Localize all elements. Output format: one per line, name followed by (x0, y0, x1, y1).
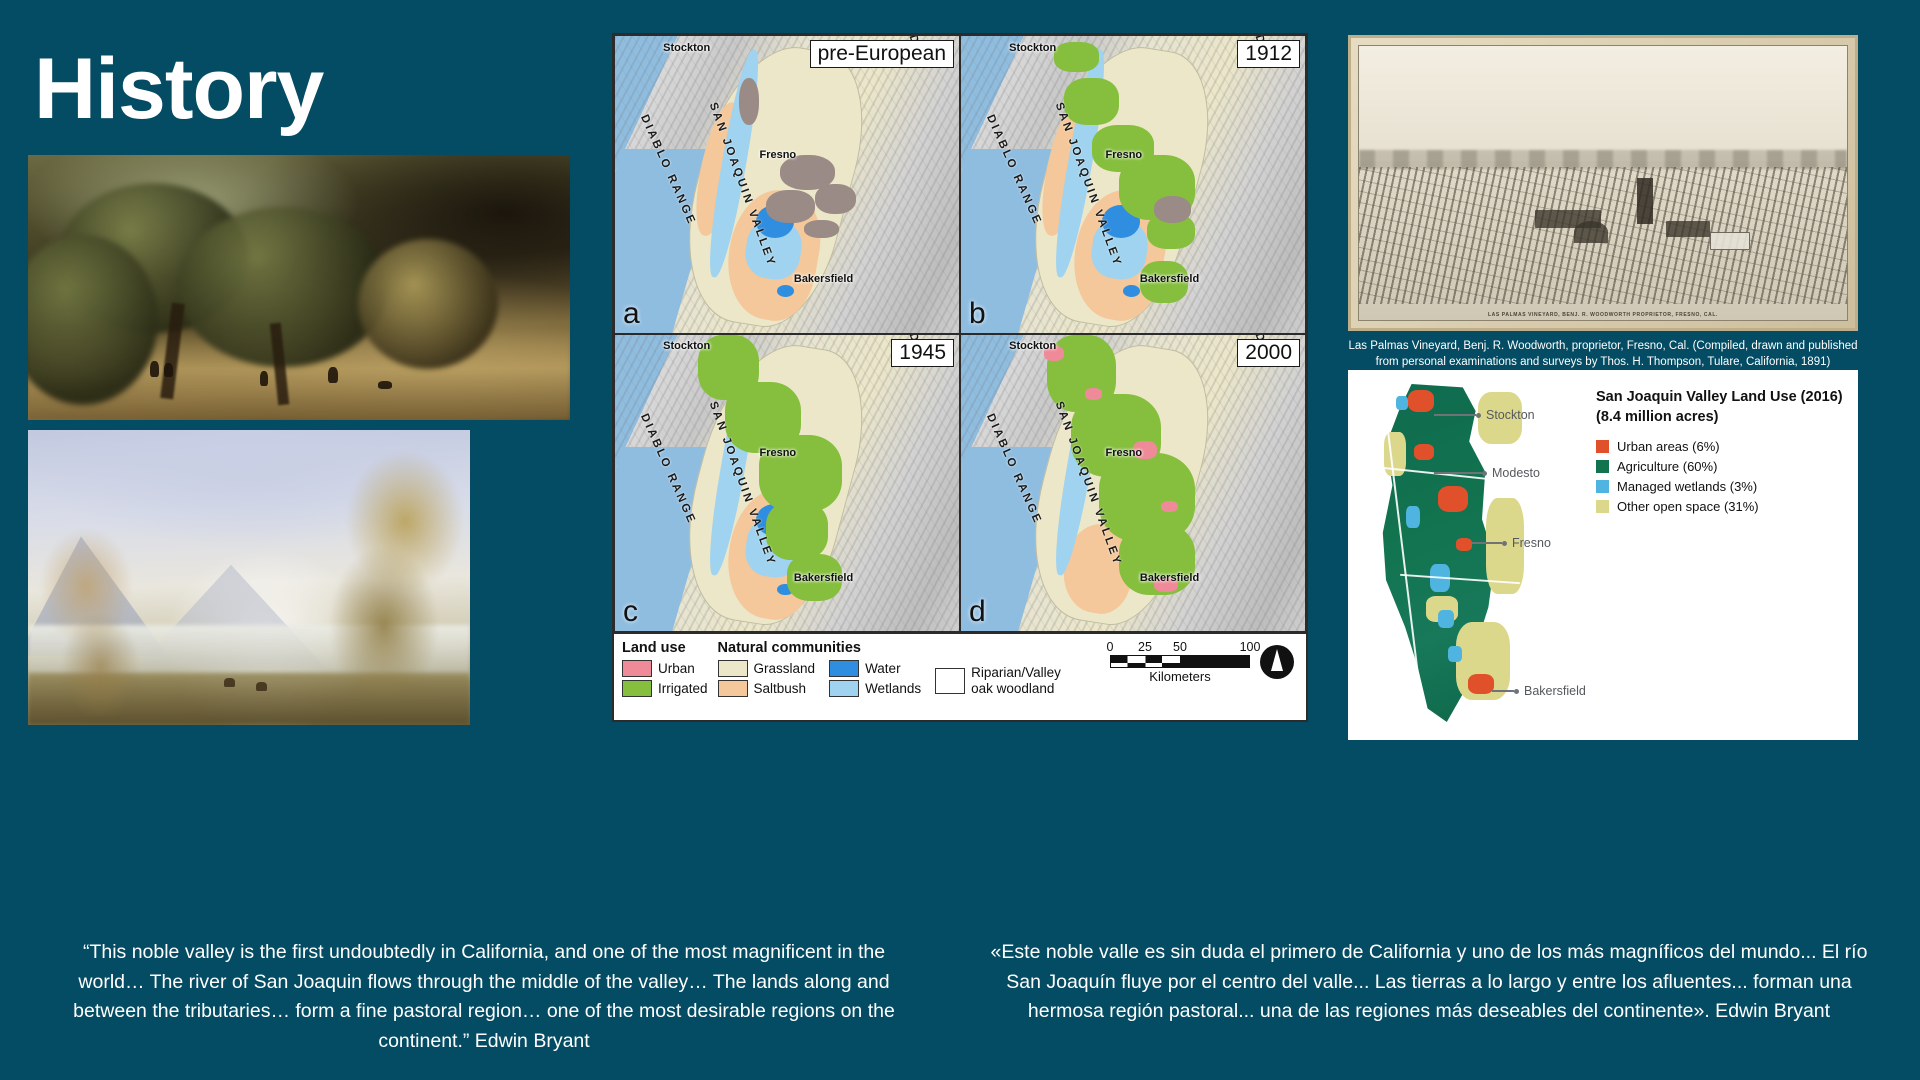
lu-legend-label-agriculture: Agriculture (60%) (1617, 459, 1717, 474)
swatch-urban-areas (1596, 440, 1609, 453)
urban-area-fresno (1438, 486, 1468, 512)
swatch-saltbush (718, 680, 748, 697)
swatch-other-open-space (1596, 500, 1609, 513)
riparian-oak-woodland (1154, 196, 1192, 223)
riparian-oak-woodland (815, 184, 856, 214)
legend-title-natural-communities: Natural communities (718, 640, 1061, 656)
engraving-building (1710, 232, 1750, 250)
lu-legend-item-other-open-space: Other open space (31%) (1596, 499, 1846, 514)
managed-wetland-area (1396, 396, 1408, 410)
lu-legend-item-urban: Urban areas (6%) (1596, 439, 1846, 454)
callout-line (1492, 690, 1514, 691)
map-panel-1912: SIERRA NEVADA DIABLO RANGE SAN JOAQUIN V… (960, 35, 1306, 334)
irrigated-area (766, 501, 828, 560)
callout-dot (1482, 471, 1487, 476)
callout-label-stockton: Stockton (1486, 408, 1535, 422)
oak-woodland-encampment-painting (28, 155, 570, 420)
quote-english: “This noble valley is the first undoubte… (56, 938, 912, 1057)
callout-dot (1502, 541, 1507, 546)
vineyard-caption: Las Palmas Vineyard, Benj. R. Woodworth,… (1348, 338, 1858, 371)
callout-dot (1476, 413, 1481, 418)
panel-year-label: pre-European (810, 40, 954, 68)
map-panel-2000: SIERRA NEVADA DIABLO RANGE SAN JOAQUIN V… (960, 334, 1306, 633)
legend-item-grassland: Grassland (718, 660, 816, 677)
city-label-stockton: Stockton (1009, 340, 1056, 352)
autumn-tree (312, 452, 462, 700)
swatch-wetlands (829, 680, 859, 697)
legend-group-land-use: Land use Urban Irrigated (622, 640, 708, 700)
callout-label-bakersfield: Bakersfield (1524, 684, 1586, 698)
legend-label-wetlands: Wetlands (865, 681, 921, 696)
urban-area-stockton (1408, 390, 1434, 412)
tree-canopy (178, 207, 388, 367)
swatch-agriculture (1596, 460, 1609, 473)
legend-natural-col-1: Grassland Saltbush (718, 660, 816, 700)
callout-line (1472, 542, 1502, 543)
irrigated-area (1064, 78, 1119, 125)
scale-unit-label: Kilometers (1149, 669, 1210, 684)
water-lake (777, 285, 794, 297)
city-label-bakersfield: Bakersfield (794, 273, 853, 285)
city-label-bakersfield: Bakersfield (1140, 572, 1199, 584)
historical-land-cover-maps-figure: SIERRA NEVADA DIABLO RANGE SAN JOAQUIN V… (612, 33, 1308, 722)
human-figure (328, 367, 338, 383)
land-use-title: San Joaquin Valley Land Use (2016) (8.4 … (1596, 388, 1846, 427)
legend-label-irrigated: Irrigated (658, 681, 708, 696)
callout-bakersfield: Bakersfield (1492, 684, 1586, 698)
callout-dot (1514, 689, 1519, 694)
land-use-map: Stockton Modesto Fresno Bakersfield (1360, 378, 1550, 730)
irrigated-area (1054, 42, 1099, 72)
tree-canopy (358, 239, 498, 369)
land-use-legend: San Joaquin Valley Land Use (2016) (8.4 … (1596, 388, 1846, 519)
scale-tick-25: 25 (1138, 640, 1152, 654)
deer-figure (224, 678, 235, 687)
slide-root: History (0, 0, 1920, 1080)
callout-label-modesto: Modesto (1492, 466, 1540, 480)
legend-item-water: Water (829, 660, 921, 677)
legend-label-urban: Urban (658, 661, 695, 676)
lu-legend-label-other-open-space: Other open space (31%) (1617, 499, 1759, 514)
land-use-2016-figure: Stockton Modesto Fresno Bakersfield San … (1348, 370, 1858, 740)
scale-bar-group: 0 25 50 100 Kilometers (1110, 640, 1250, 684)
scale-tick-0: 0 (1107, 640, 1114, 654)
map-legend: Land use Urban Irrigated Natural communi… (614, 632, 1306, 720)
legend-natural-col-2: Water Wetlands (829, 660, 921, 700)
city-label-bakersfield: Bakersfield (794, 572, 853, 584)
lu-legend-label-urban: Urban areas (6%) (1617, 439, 1720, 454)
panel-letter: c (623, 595, 638, 629)
legend-label-riparian-wrapper: Riparian/Valley oak woodland (971, 665, 1061, 696)
managed-wetland-area (1438, 610, 1454, 628)
legend-item-riparian: Riparian/Valley oak woodland (935, 662, 1061, 700)
swatch-urban (622, 660, 652, 677)
lu-legend-item-agriculture: Agriculture (60%) (1596, 459, 1846, 474)
scale-and-compass: 0 25 50 100 Kilometers (1110, 640, 1298, 684)
city-label-stockton: Stockton (663, 340, 710, 352)
legend-label-saltbush: Saltbush (754, 681, 807, 696)
panel-letter: d (969, 595, 986, 629)
lu-legend-item-managed-wetlands: Managed wetlands (3%) (1596, 479, 1846, 494)
autumn-tree (32, 526, 150, 716)
legend-label-water: Water (865, 661, 901, 676)
swatch-irrigated (622, 680, 652, 697)
swatch-managed-wetlands (1596, 480, 1609, 493)
callout-label-fresno: Fresno (1512, 536, 1551, 550)
legend-title-land-use: Land use (622, 640, 708, 656)
scale-tick-labels: 0 25 50 100 (1110, 640, 1250, 655)
callout-line (1434, 414, 1476, 415)
engraving-sky (1359, 46, 1847, 161)
managed-wetland-area (1406, 506, 1420, 528)
legend-item-irrigated: Irrigated (622, 680, 708, 697)
callout-modesto: Modesto (1434, 466, 1540, 480)
water-lake (1123, 285, 1140, 297)
city-label-stockton: Stockton (663, 42, 710, 54)
scale-bar (1110, 655, 1250, 668)
legend-item-wetlands: Wetlands (829, 680, 921, 697)
legend-label-riparian-line2: oak woodland (971, 681, 1054, 696)
swatch-riparian-oak-woodland (935, 668, 965, 694)
city-label-fresno: Fresno (759, 149, 796, 161)
map-panel-grid: SIERRA NEVADA DIABLO RANGE SAN JOAQUIN V… (614, 35, 1306, 632)
panel-letter: b (969, 297, 986, 331)
urban-area (1085, 388, 1102, 400)
callout-stockton: Stockton (1434, 408, 1535, 422)
panel-letter: a (623, 297, 640, 331)
scale-tick-100: 100 (1240, 640, 1261, 654)
city-label-stockton: Stockton (1009, 42, 1056, 54)
map-panel-pre-european: SIERRA NEVADA DIABLO RANGE SAN JOAQUIN V… (614, 35, 960, 334)
human-figure (260, 371, 268, 386)
legend-natural-columns: Grassland Saltbush Water (718, 660, 1061, 700)
vineyard-engraving-image: LAS PALMAS VINEYARD, BENJ. R. WOODWORTH … (1358, 45, 1848, 321)
deer-figure (256, 682, 267, 691)
vineyard-engraving-frame: LAS PALMAS VINEYARD, BENJ. R. WOODWORTH … (1348, 35, 1858, 331)
city-label-bakersfield: Bakersfield (1140, 273, 1199, 285)
dog-figure (378, 381, 392, 389)
riparian-oak-woodland (739, 78, 760, 125)
urban-area-modesto (1414, 444, 1434, 460)
riparian-oak-woodland (804, 220, 838, 238)
managed-wetland-area (1448, 646, 1462, 662)
human-figure (150, 361, 159, 377)
north-arrow-icon (1260, 645, 1294, 679)
swatch-water (829, 660, 859, 677)
legend-group-natural-communities: Natural communities Grassland Saltbush (718, 640, 1061, 700)
legend-label-grassland: Grassland (754, 661, 816, 676)
panel-year-label: 1945 (891, 339, 954, 367)
engraving-inline-caption: LAS PALMAS VINEYARD, BENJ. R. WOODWORTH … (1359, 312, 1847, 318)
page-title: History (34, 46, 323, 132)
callout-line (1434, 472, 1482, 473)
city-label-fresno: Fresno (1105, 447, 1142, 459)
swatch-grassland (718, 660, 748, 677)
urban-area (1456, 538, 1472, 551)
legend-item-saltbush: Saltbush (718, 680, 816, 697)
riparian-oak-woodland (766, 190, 814, 223)
callout-fresno: Fresno (1472, 536, 1551, 550)
engraving-building (1666, 221, 1710, 237)
city-label-fresno: Fresno (759, 447, 796, 459)
human-figure (164, 363, 173, 377)
autumn-valley-lake-painting (28, 430, 470, 725)
urban-area-bakersfield (1468, 674, 1494, 694)
lu-legend-label-managed-wetlands: Managed wetlands (3%) (1617, 479, 1757, 494)
panel-year-label: 1912 (1237, 40, 1300, 68)
engraving-building (1574, 221, 1608, 243)
engraving-water-tower (1637, 178, 1653, 224)
urban-area (1161, 501, 1178, 513)
panel-year-label: 2000 (1237, 339, 1300, 367)
scale-tick-50: 50 (1173, 640, 1187, 654)
legend-item-urban: Urban (622, 660, 708, 677)
quote-spanish: «Este noble valle es sin duda el primero… (986, 938, 1872, 1027)
map-panel-1945: SIERRA NEVADA DIABLO RANGE SAN JOAQUIN V… (614, 334, 960, 633)
city-label-fresno: Fresno (1105, 149, 1142, 161)
legend-label-riparian-line1: Riparian/Valley (971, 665, 1061, 680)
